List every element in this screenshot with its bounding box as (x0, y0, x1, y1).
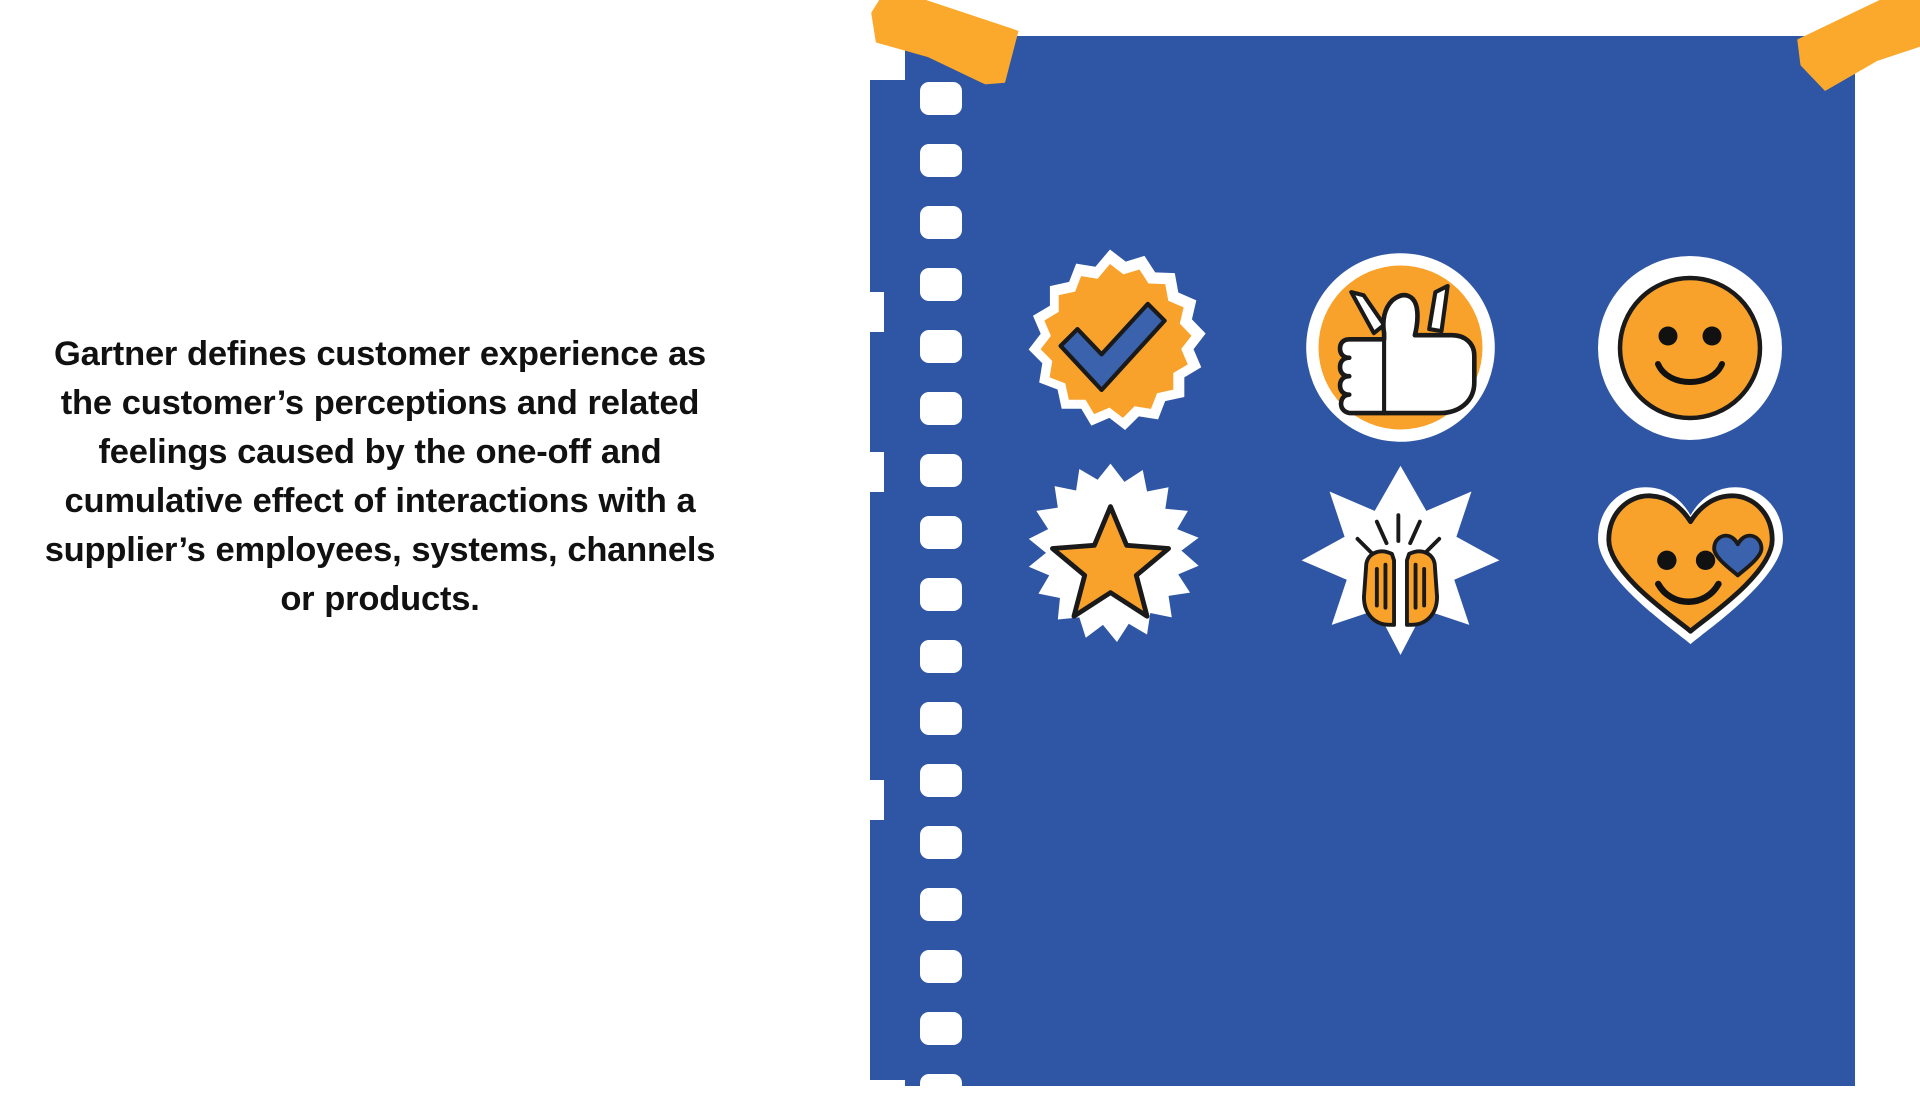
star-burst-icon (1003, 455, 1218, 670)
spine-hole (920, 826, 962, 859)
sticker-icon-grid (965, 240, 1835, 670)
spine-hole (920, 454, 962, 487)
quote-text: Gartner defines customer experience as t… (40, 330, 720, 624)
spine-notch-mid (870, 452, 884, 492)
spine-hole (920, 144, 962, 177)
spine-hole (920, 392, 962, 425)
smiley-face-icon (1590, 248, 1790, 448)
thumbs-up-icon (1298, 245, 1503, 450)
verified-badge-icon (1005, 243, 1215, 453)
spine-hole (920, 764, 962, 797)
spine-hole (920, 268, 962, 301)
spine-hole (920, 888, 962, 921)
spine-hole-column (920, 82, 966, 1080)
spine-hole (920, 330, 962, 363)
spine-hole (920, 578, 962, 611)
clapping-hands-icon (1293, 455, 1508, 670)
icon-cell-verified-badge[interactable] (965, 240, 1255, 455)
slide-canvas: Gartner defines customer experience as t… (0, 0, 1920, 1080)
icon-cell-star-burst[interactable] (965, 455, 1255, 670)
spine-notch-top (870, 292, 884, 332)
icon-cell-smiling-heart[interactable] (1545, 455, 1835, 670)
spine-hole (920, 82, 962, 115)
smiling-heart-icon (1583, 455, 1798, 670)
quote-block: Gartner defines customer experience as t… (40, 330, 720, 624)
spine-hole (920, 1074, 962, 1107)
spine-hole (920, 640, 962, 673)
spine-hole (920, 206, 962, 239)
spine-hole (920, 516, 962, 549)
spine-hole (920, 950, 962, 983)
spine-notch-bottom (870, 780, 884, 820)
icon-cell-thumbs-up[interactable] (1255, 240, 1545, 455)
icon-cell-smiley[interactable] (1545, 240, 1835, 455)
spine-hole (920, 1012, 962, 1045)
spine-hole (920, 702, 962, 735)
icon-cell-clapping-hands[interactable] (1255, 455, 1545, 670)
